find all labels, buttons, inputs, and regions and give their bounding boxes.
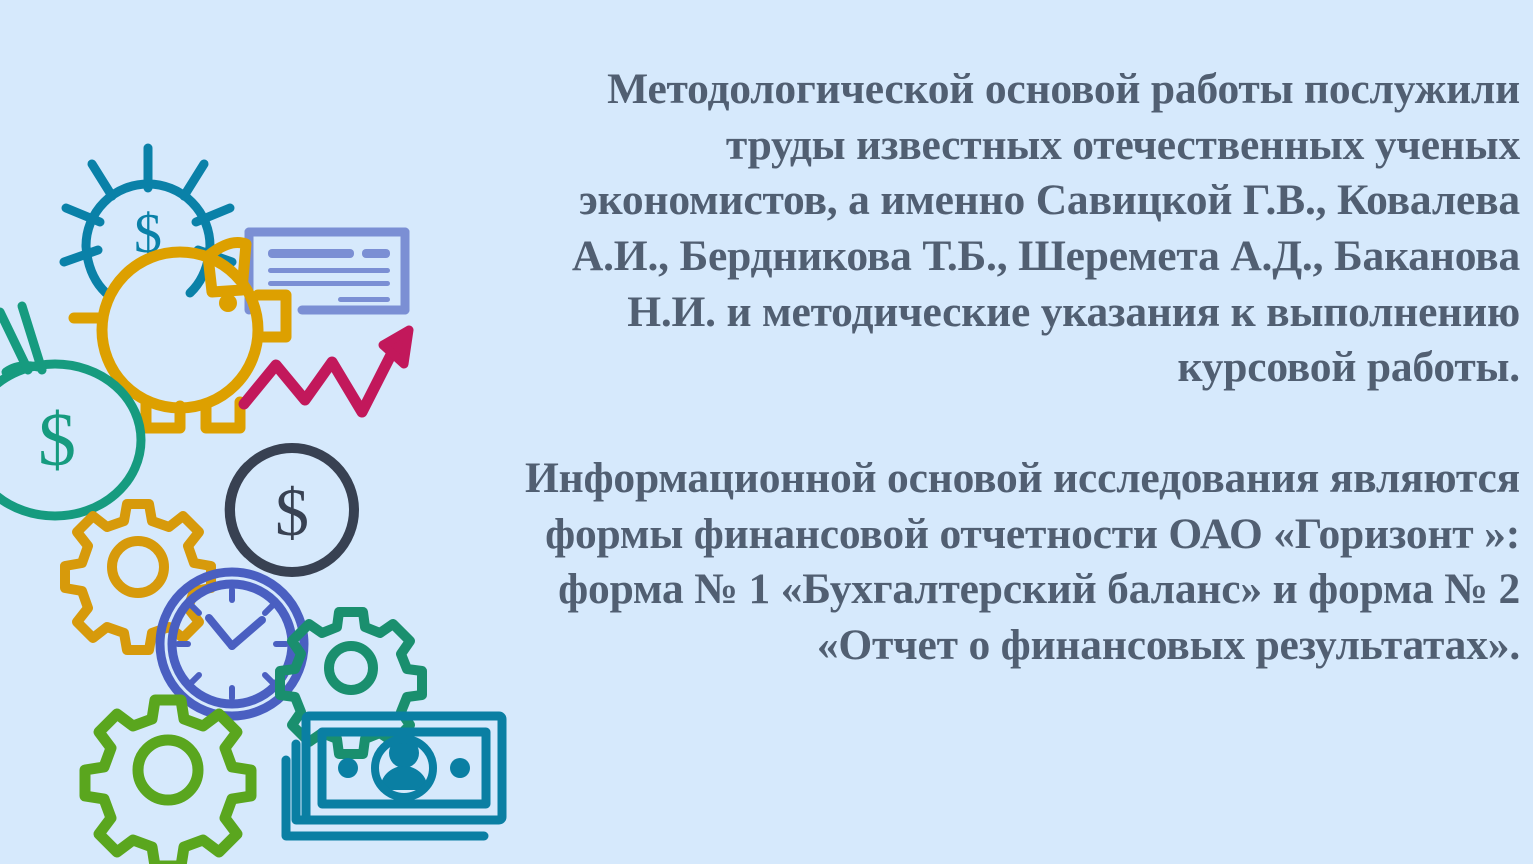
banknote-portrait bbox=[338, 738, 470, 797]
piggy-bank-eye bbox=[219, 294, 237, 312]
gear-green-icon bbox=[85, 700, 251, 864]
svg-text:$: $ bbox=[38, 398, 76, 482]
document-card-lines bbox=[268, 249, 390, 302]
paragraph-information-basis: Информационной основой исследования явля… bbox=[520, 451, 1520, 674]
money-bag-dollar-icon bbox=[0, 306, 141, 516]
finance-icons-illustration: $ bbox=[0, 0, 530, 864]
money-bag-dollar-symbol: $ bbox=[38, 398, 76, 482]
growth-arrow-icon bbox=[244, 345, 396, 412]
clock-hands bbox=[209, 618, 262, 646]
lightbulb-dollar-symbol: $ bbox=[134, 203, 162, 265]
svg-text:$: $ bbox=[134, 203, 162, 265]
piggy-bank-icon bbox=[74, 243, 286, 429]
paragraph-spacer bbox=[520, 396, 1520, 451]
paragraph-methodological-basis: Методологической основой работы послужил… bbox=[520, 62, 1520, 396]
growth-arrow-head bbox=[383, 330, 409, 364]
lightbulb-dollar-icon bbox=[64, 148, 232, 293]
slide-canvas: $ bbox=[0, 0, 1533, 864]
clock-ticks bbox=[178, 590, 286, 698]
gear-amber-icon bbox=[65, 504, 211, 650]
gear-teal-icon bbox=[280, 612, 422, 754]
clock-icon bbox=[160, 572, 304, 716]
slide-text-column: Методологической основой работы послужил… bbox=[520, 62, 1520, 674]
coin-dollar-symbol: $ bbox=[275, 474, 309, 550]
banknotes-stack-icon bbox=[286, 716, 502, 836]
document-card-icon bbox=[249, 232, 405, 310]
svg-text:$: $ bbox=[275, 474, 309, 550]
coin-dollar-icon bbox=[230, 448, 354, 572]
